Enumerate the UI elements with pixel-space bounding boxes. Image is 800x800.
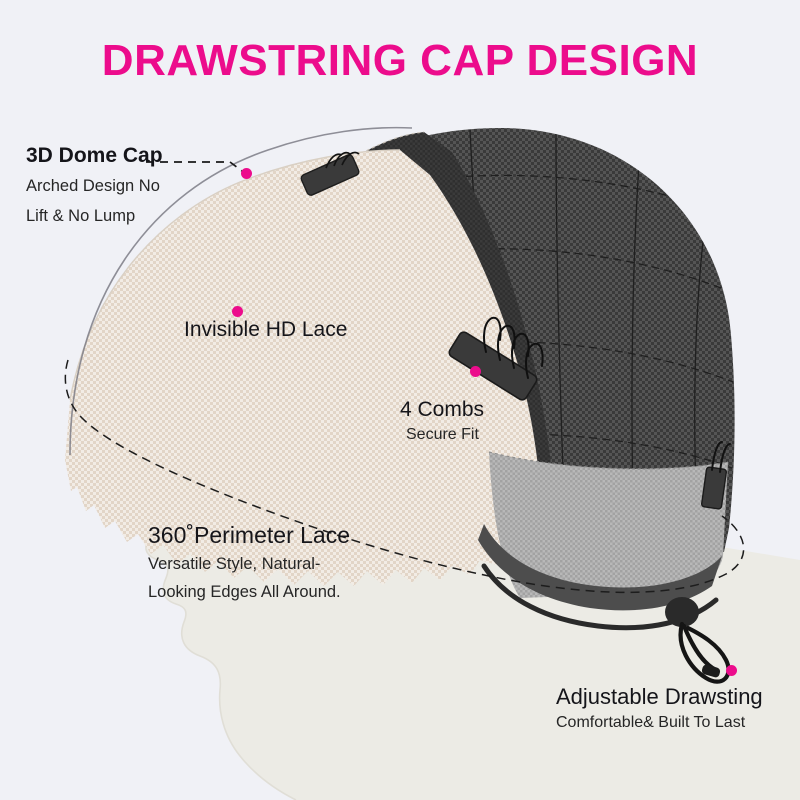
- callout-subline-1: Arched Design No: [26, 176, 163, 198]
- cap-design-infographic: DRAWSTRING CAP DESIGN: [0, 0, 800, 800]
- callout-subline-2: Looking Edges All Around.: [148, 582, 350, 604]
- marker-dot-lace-icon: [232, 306, 243, 317]
- callout-3d-dome-cap: 3D Dome Cap Arched Design No Lift & No L…: [26, 144, 163, 228]
- callout-heading: Invisible HD Lace: [184, 318, 347, 342]
- callout-heading: 360˚Perimeter Lace: [148, 522, 350, 548]
- marker-dot-combs-icon: [470, 366, 481, 377]
- marker-dot-dome-icon: [241, 168, 252, 179]
- callout-subline-1: Versatile Style, Natural-: [148, 554, 350, 576]
- callout-subline-1: Comfortable& Built To Last: [556, 712, 763, 733]
- callout-heading: Adjustable Drawsting: [556, 684, 763, 709]
- marker-dot-drawstring-icon: [726, 665, 737, 676]
- callout-subline-2: Lift & No Lump: [26, 206, 163, 228]
- callout-heading: 4 Combs: [400, 398, 484, 422]
- callout-360-perimeter-lace: 360˚Perimeter Lace Versatile Style, Natu…: [148, 522, 350, 604]
- callout-heading: 3D Dome Cap: [26, 144, 163, 168]
- callout-4-combs: 4 Combs Secure Fit: [400, 398, 484, 445]
- callout-subline-1: Secure Fit: [406, 424, 484, 445]
- callout-invisible-hd-lace: Invisible HD Lace: [184, 318, 347, 342]
- callout-adjustable-drawstring: Adjustable Drawsting Comfortable& Built …: [556, 684, 763, 733]
